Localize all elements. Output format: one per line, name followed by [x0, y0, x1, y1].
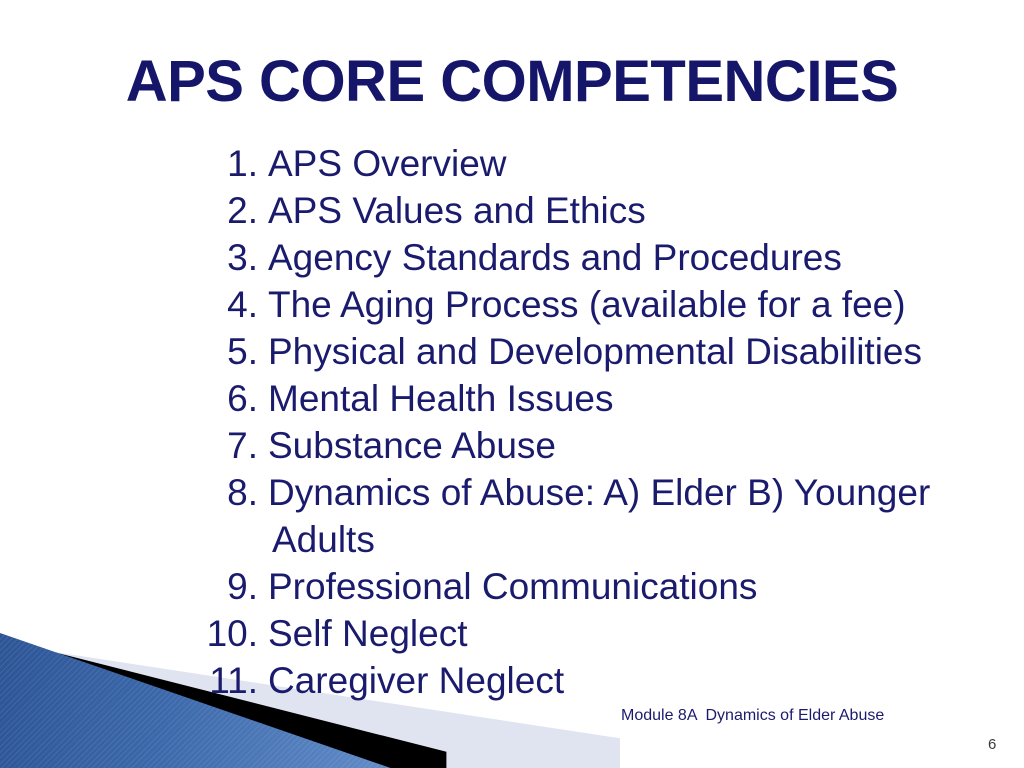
- list-item-label: Self Neglect: [258, 610, 468, 657]
- list-item-number: 5.: [196, 328, 258, 375]
- list-item-number: 8.: [196, 469, 258, 516]
- slide-number: 6: [988, 736, 996, 753]
- page-title: APS CORE COMPETENCIES: [0, 52, 1024, 113]
- list-item-label: APS Values and Ethics: [258, 187, 646, 234]
- list-item-number: 10.: [196, 610, 258, 657]
- competency-list: 1.APS Overview2.APS Values and Ethics3.A…: [196, 140, 1016, 704]
- list-item: 1.APS Overview: [196, 140, 1016, 187]
- list-item: 6.Mental Health Issues: [196, 375, 1016, 422]
- list-item-label: APS Overview: [258, 140, 507, 187]
- list-item-number: 1.: [196, 140, 258, 187]
- list-item-continuation: Adults: [196, 516, 1016, 563]
- list-item-label: Mental Health Issues: [258, 375, 614, 422]
- list-item-label: Substance Abuse: [258, 422, 556, 469]
- list-item: 3.Agency Standards and Procedures: [196, 234, 1016, 281]
- list-item: 7.Substance Abuse: [196, 422, 1016, 469]
- list-item-number: 7.: [196, 422, 258, 469]
- list-item: 2.APS Values and Ethics: [196, 187, 1016, 234]
- list-item-number: 2.: [196, 187, 258, 234]
- list-item: 8.Dynamics of Abuse: A) Elder B) Younger: [196, 469, 1016, 516]
- list-item-label: Physical and Developmental Disabilities: [258, 328, 922, 375]
- list-item-label: The Aging Process (available for a fee): [258, 281, 906, 328]
- slide-canvas: APS CORE COMPETENCIES 1.APS Overview2.AP…: [0, 0, 1024, 768]
- list-item-label: Dynamics of Abuse: A) Elder B) Younger: [258, 469, 930, 516]
- list-item-number: 3.: [196, 234, 258, 281]
- list-item-label: Agency Standards and Procedures: [258, 234, 842, 281]
- list-item-number: 6.: [196, 375, 258, 422]
- footer-module-note: Module 8A Dynamics of Elder Abuse: [621, 707, 884, 725]
- list-item-label: Professional Communications: [258, 563, 757, 610]
- list-item-number: 11.: [196, 657, 258, 704]
- list-item: 5.Physical and Developmental Disabilitie…: [196, 328, 1016, 375]
- list-item: 9.Professional Communications: [196, 563, 1016, 610]
- list-item: 11.Caregiver Neglect: [196, 657, 1016, 704]
- list-item: 10.Self Neglect: [196, 610, 1016, 657]
- list-item-number: 9.: [196, 563, 258, 610]
- list-item-number: 4.: [196, 281, 258, 328]
- list-item: 4.The Aging Process (available for a fee…: [196, 281, 1016, 328]
- list-item-label: Caregiver Neglect: [258, 657, 564, 704]
